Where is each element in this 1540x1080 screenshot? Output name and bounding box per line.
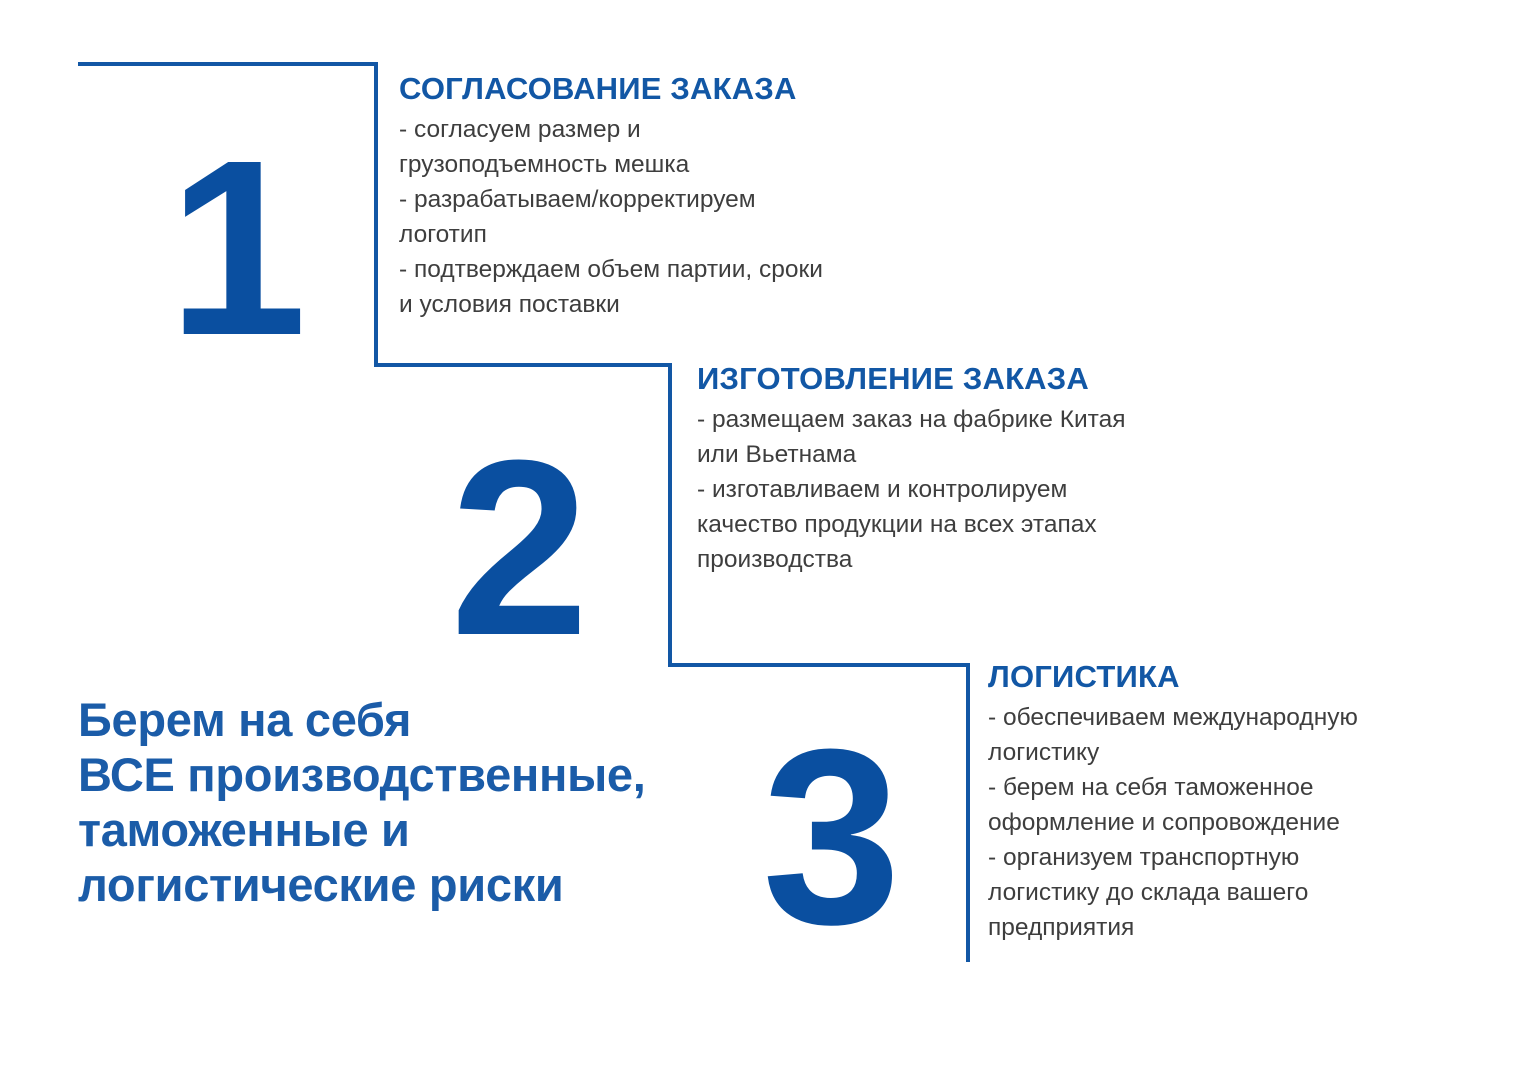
step-block-2: ИЗГОТОВЛЕНИЕ ЗАКАЗА - размещаем заказ на… <box>697 360 1317 577</box>
step-body-2: - размещаем заказ на фабрике Китая или В… <box>697 402 1317 577</box>
summary-headline: Берем на себя ВСЕ производственные, тамо… <box>78 692 778 912</box>
step-title-1: СОГЛАСОВАНИЕ ЗАКАЗА <box>399 70 999 108</box>
step-number-1: 1 <box>168 123 303 373</box>
connector-line-segment-3-horizontal <box>668 663 970 667</box>
step-number-3: 3 <box>762 712 897 962</box>
connector-line-segment-1-horizontal <box>78 62 378 66</box>
step-number-2: 2 <box>450 423 585 673</box>
step-title-2: ИЗГОТОВЛЕНИЕ ЗАКАЗА <box>697 360 1317 398</box>
step-body-1: - согласуем размер и грузоподъемность ме… <box>399 112 999 322</box>
connector-line-segment-2-vertical <box>668 363 672 667</box>
connector-line-segment-3-vertical <box>966 663 970 962</box>
connector-line-segment-2-horizontal <box>374 363 672 367</box>
step-body-3: - обеспечиваем международную логистику -… <box>988 700 1508 945</box>
step-block-3: ЛОГИСТИКА - обеспечиваем международную л… <box>988 658 1508 945</box>
connector-line-segment-1-vertical <box>374 62 378 367</box>
infographic-canvas: 1 2 3 СОГЛАСОВАНИЕ ЗАКАЗА - согласуем ра… <box>0 0 1540 1080</box>
step-block-1: СОГЛАСОВАНИЕ ЗАКАЗА - согласуем размер и… <box>399 70 999 322</box>
step-title-3: ЛОГИСТИКА <box>988 658 1508 696</box>
